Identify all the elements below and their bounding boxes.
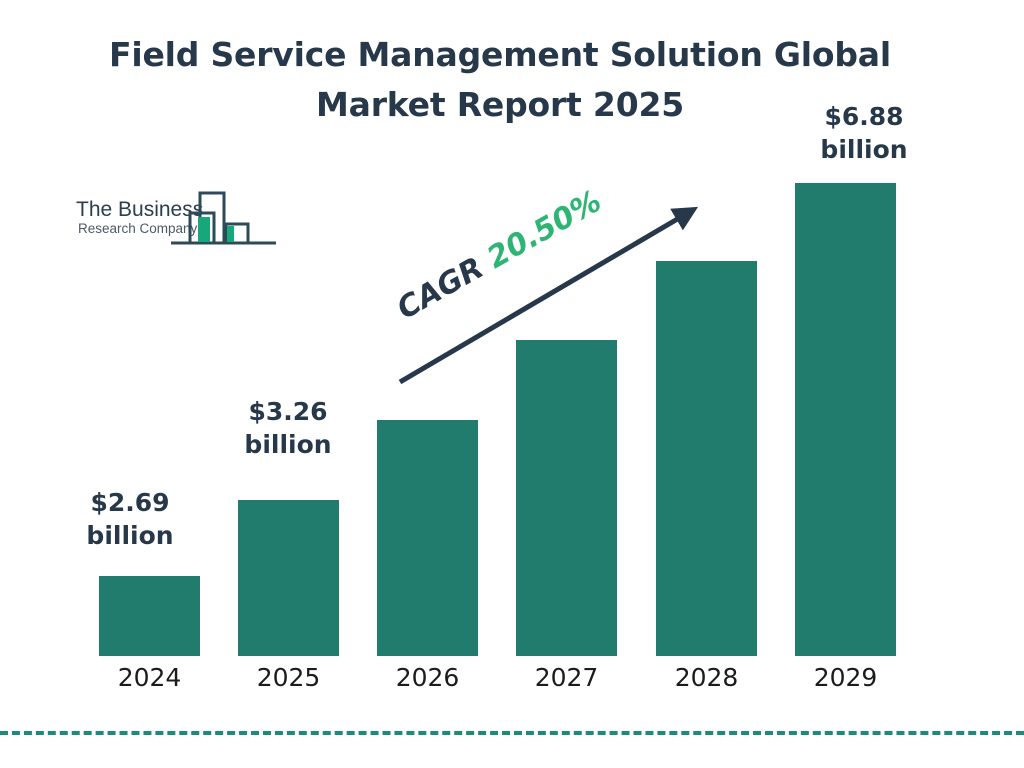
bar-2029 — [795, 183, 896, 656]
tick-label-2024: 2024 — [99, 663, 200, 692]
footer-divider — [0, 731, 1024, 735]
bar-value-2029: $6.88 billion — [789, 100, 939, 166]
tick-label-2027: 2027 — [516, 663, 617, 692]
plot-area: $2.69 billion $3.26 billion $6.88 billio… — [0, 0, 1024, 768]
bar-2024 — [99, 576, 200, 656]
bar-2026 — [377, 420, 478, 656]
tick-label-2028: 2028 — [656, 663, 757, 692]
bar-value-2025: $3.26 billion — [213, 395, 363, 461]
bar-value-2024: $2.69 billion — [55, 486, 205, 552]
cagr-annotation: CAGR 20.50% — [386, 196, 716, 396]
tick-label-2025: 2025 — [238, 663, 339, 692]
tick-label-2029: 2029 — [795, 663, 896, 692]
tick-label-2026: 2026 — [377, 663, 478, 692]
chart-canvas: Field Service Management Solution Global… — [0, 0, 1024, 768]
bar-2025 — [238, 500, 339, 656]
